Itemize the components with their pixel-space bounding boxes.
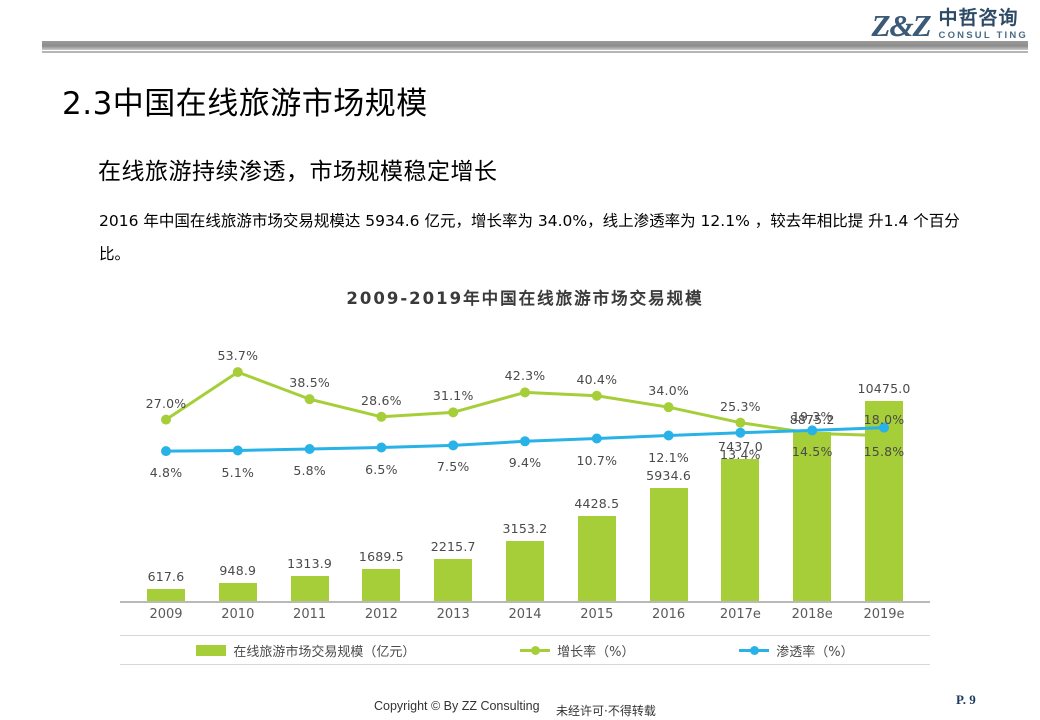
x-tick-2011: 2011 bbox=[293, 607, 326, 622]
chart-container: 2009-2019年中国在线旅游市场交易规模 617.6948.91313.91… bbox=[120, 285, 930, 675]
growth-rate-label-2014: 42.3% bbox=[505, 368, 546, 383]
penetration-rate-label-2019e: 15.8% bbox=[864, 444, 905, 459]
legend-label-0: 在线旅游市场交易规模（亿元） bbox=[233, 641, 415, 660]
legend-item-2[interactable]: 渗透率（%） bbox=[739, 641, 853, 660]
growth-rate-label-2016: 34.0% bbox=[648, 383, 689, 398]
penetration-rate-label-2012: 6.5% bbox=[365, 462, 398, 477]
legend-swatch-line-icon bbox=[520, 645, 550, 656]
x-tick-2018e: 2018e bbox=[792, 607, 833, 622]
x-tick-2012: 2012 bbox=[365, 607, 398, 622]
footer-notice: 未经许可·不得转载 bbox=[556, 702, 656, 719]
growth-rate-label-2010: 53.7% bbox=[217, 348, 258, 363]
legend-label-1: 增长率（%） bbox=[557, 641, 634, 660]
growth-rate-label-2018e: 19.3% bbox=[792, 409, 833, 424]
header-divider-thick bbox=[42, 41, 1028, 50]
x-tick-2019e: 2019e bbox=[863, 607, 904, 622]
header-divider-thin bbox=[42, 51, 1028, 53]
logo-english-name: CONSUL TING bbox=[939, 31, 1028, 41]
penetration-rate-label-2017e: 13.4% bbox=[720, 447, 761, 462]
x-tick-2017e: 2017e bbox=[720, 607, 761, 622]
logo-text-block: 中哲咨询 CONSUL TING bbox=[939, 9, 1028, 41]
x-tick-2016: 2016 bbox=[652, 607, 685, 622]
logo-zz-mark: Z&Z bbox=[872, 10, 931, 41]
chart-title: 2009-2019年中国在线旅游市场交易规模 bbox=[120, 285, 930, 309]
growth-rate-label-2012: 28.6% bbox=[361, 393, 402, 408]
chart-legend: 在线旅游市场交易规模（亿元）增长率（%）渗透率（%） bbox=[120, 635, 930, 665]
page-number: P. 9 bbox=[956, 692, 976, 708]
brand-logo: Z&Z 中哲咨询 CONSUL TING bbox=[848, 4, 1028, 46]
x-tick-2014: 2014 bbox=[508, 607, 541, 622]
penetration-rate-label-2018e: 14.5% bbox=[792, 444, 833, 459]
chart-x-axis bbox=[120, 601, 930, 603]
penetration-rate-label-2010: 5.1% bbox=[222, 465, 255, 480]
x-tick-2015: 2015 bbox=[580, 607, 613, 622]
x-tick-2009: 2009 bbox=[149, 607, 182, 622]
slide-root: Z&Z 中哲咨询 CONSUL TING 2.3中国在线旅游市场规模 在线旅游持… bbox=[0, 0, 1040, 720]
growth-rate-label-2011: 38.5% bbox=[289, 375, 330, 390]
penetration-rate-label-2011: 5.8% bbox=[293, 463, 326, 478]
legend-swatch-line-icon bbox=[739, 645, 769, 656]
section-subtitle: 在线旅游持续渗透，市场规模稳定增长 bbox=[98, 152, 498, 186]
footer-copyright: Copyright © By ZZ Consulting bbox=[374, 699, 540, 713]
legend-item-0[interactable]: 在线旅游市场交易规模（亿元） bbox=[196, 641, 415, 660]
body-paragraph: 2016 年中国在线旅游市场交易规模达 5934.6 亿元，增长率为 34.0%… bbox=[99, 205, 969, 271]
growth-rate-label-2013: 31.1% bbox=[433, 388, 474, 403]
penetration-rate-label-2015: 10.7% bbox=[576, 453, 617, 468]
growth-rate-label-2017e: 25.3% bbox=[720, 399, 761, 414]
penetration-rate-label-2013: 7.5% bbox=[437, 459, 470, 474]
penetration-rate-label-2016: 12.1% bbox=[648, 450, 689, 465]
x-tick-2010: 2010 bbox=[221, 607, 254, 622]
growth-rate-label-2009: 27.0% bbox=[146, 396, 187, 411]
legend-item-1[interactable]: 增长率（%） bbox=[520, 641, 634, 660]
x-tick-2013: 2013 bbox=[437, 607, 470, 622]
growth-rate-label-2015: 40.4% bbox=[576, 372, 617, 387]
penetration-rate-label-2009: 4.8% bbox=[150, 465, 183, 480]
logo-chinese-name: 中哲咨询 bbox=[939, 9, 1019, 28]
growth-rate-label-2019e: 18.0% bbox=[864, 412, 905, 427]
page-title: 2.3中国在线旅游市场规模 bbox=[62, 78, 428, 123]
penetration-rate-label-2014: 9.4% bbox=[509, 455, 542, 470]
chart-plot-area: 617.6948.91313.91689.52215.73153.24428.5… bbox=[120, 313, 930, 603]
legend-swatch-bar-icon bbox=[196, 645, 226, 656]
legend-label-2: 渗透率（%） bbox=[776, 641, 853, 660]
